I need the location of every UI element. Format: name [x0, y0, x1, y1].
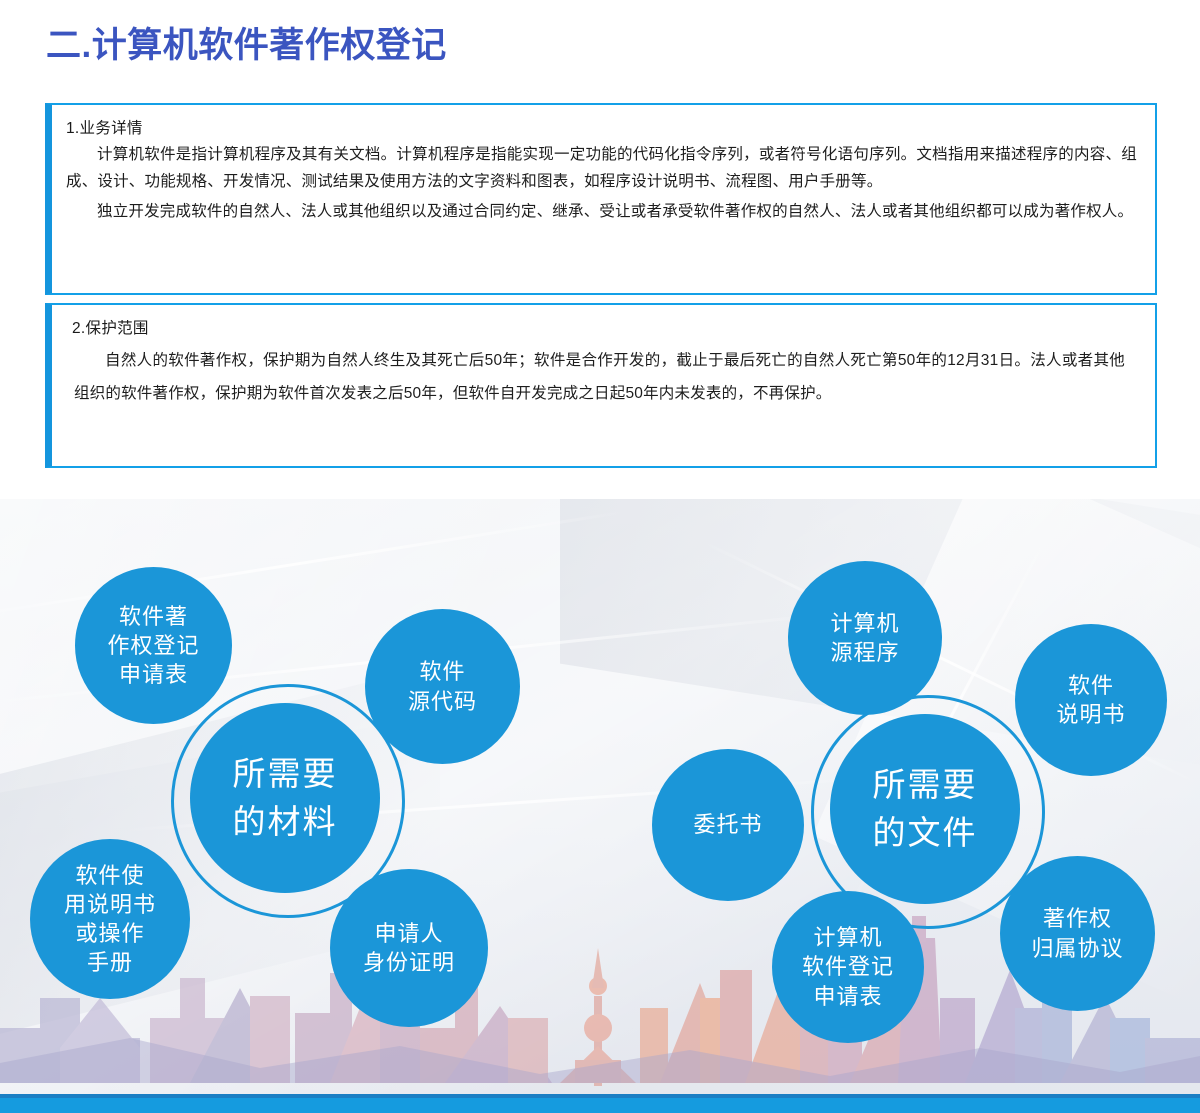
- bubble-label: 软件 说明书: [1056, 671, 1125, 729]
- section-1-paragraph-2: 独立开发完成软件的自然人、法人或其他组织以及通过合同约定、继承、受让或者承受软件…: [66, 198, 1137, 225]
- bottom-blue-band: [0, 1098, 1200, 1113]
- bubble-computer-software-registration-form[interactable]: 计算机 软件登记 申请表: [772, 891, 924, 1043]
- page-title: 二.计算机软件著作权登记: [46, 22, 447, 70]
- bubble-label: 软件使 用说明书 或操作 手册: [64, 861, 156, 977]
- bubble-label: 计算机 软件登记 申请表: [802, 923, 894, 1010]
- bubble-computer-source-program[interactable]: 计算机 源程序: [788, 561, 942, 715]
- section-2-paragraph-1: 自然人的软件著作权，保护期为自然人终生及其死亡后50年；软件是合作开发的，截止于…: [74, 344, 1125, 410]
- protection-scope-box: 2.保护范围 自然人的软件著作权，保护期为自然人终生及其死亡后50年；软件是合作…: [45, 303, 1157, 468]
- bubble-power-of-attorney[interactable]: 委托书: [652, 749, 804, 901]
- section-2-heading: 2.保护范围: [72, 316, 1155, 338]
- left-cluster-center-bubble[interactable]: 所需要 的材料: [190, 703, 380, 893]
- bubble-software-copyright-application-form[interactable]: 软件著 作权登记 申请表: [75, 567, 232, 724]
- bubble-software-instruction-manual[interactable]: 软件 说明书: [1015, 624, 1167, 776]
- section-1-heading: 1.业务详情: [66, 116, 1155, 138]
- bubble-label: 著作权 归属协议: [1031, 904, 1123, 962]
- bubble-label: 计算机 源程序: [830, 609, 899, 667]
- left-cluster-center-label: 所需要 的材料: [233, 750, 338, 846]
- bubble-copyright-ownership-agreement[interactable]: 著作权 归属协议: [1000, 856, 1155, 1011]
- bubble-label: 申请人 身份证明: [363, 919, 455, 977]
- section-1-paragraph-1: 计算机软件是指计算机程序及其有关文档。计算机程序是指能实现一定功能的代码化指令序…: [66, 141, 1137, 195]
- diagram-hero-section: 所需要 的材料 软件著 作权登记 申请表 软件 源代码 软件使 用说明书 或操作…: [0, 499, 1200, 1113]
- right-cluster-center-label: 所需要 的文件: [873, 761, 978, 857]
- bubble-label: 软件 源代码: [408, 657, 477, 715]
- bubble-label: 委托书: [693, 810, 762, 839]
- bubble-label: 软件著 作权登记 申请表: [107, 602, 199, 689]
- bubble-software-user-manual[interactable]: 软件使 用说明书 或操作 手册: [30, 839, 190, 999]
- right-cluster-center-bubble[interactable]: 所需要 的文件: [830, 714, 1020, 904]
- bubble-applicant-identity-proof[interactable]: 申请人 身份证明: [330, 869, 488, 1027]
- business-details-box: 1.业务详情 计算机软件是指计算机程序及其有关文档。计算机程序是指能实现一定功能…: [45, 103, 1157, 295]
- bubble-software-source-code[interactable]: 软件 源代码: [365, 609, 520, 764]
